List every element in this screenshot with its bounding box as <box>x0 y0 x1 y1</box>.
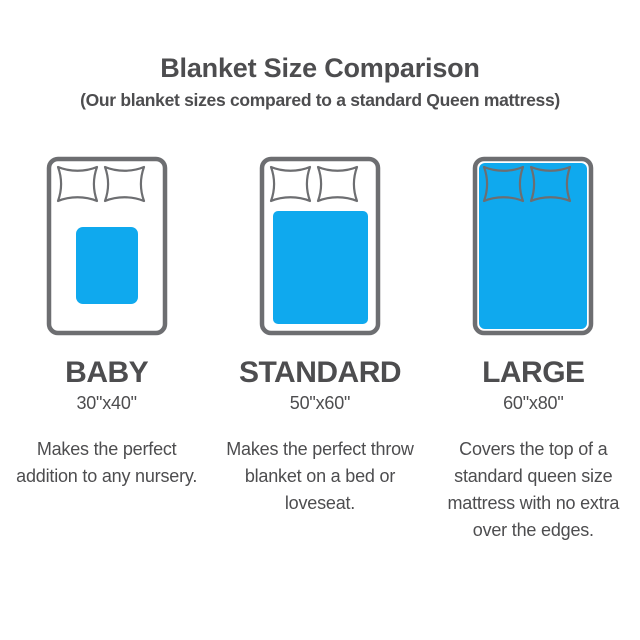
pillow-right-icon <box>105 167 144 201</box>
comparison-column-standard: STANDARD 50"x60" Makes the perfect throw… <box>213 148 426 517</box>
blanket-overlay-standard <box>273 211 368 324</box>
bed-diagram-large <box>469 148 597 344</box>
size-name-baby: BABY <box>65 356 148 390</box>
size-dimensions-baby: 30"x40" <box>76 392 136 414</box>
size-dimensions-standard: 50"x60" <box>290 392 350 414</box>
bed-with-blanket-icon <box>43 148 171 344</box>
pillow-left-icon <box>58 167 97 201</box>
comparison-columns: BABY 30"x40" Makes the perfect addition … <box>0 148 640 544</box>
size-dimensions-large: 60"x80" <box>503 392 563 414</box>
bed-with-blanket-icon <box>256 148 384 344</box>
size-description-large: Covers the top of a standard queen size … <box>438 436 628 544</box>
blanket-size-comparison-infographic: Blanket Size Comparison (Our blanket siz… <box>0 0 640 640</box>
size-name-standard: STANDARD <box>239 356 401 390</box>
pillow-left-icon <box>271 167 310 201</box>
size-name-large: LARGE <box>482 356 585 390</box>
page-subtitle: (Our blanket sizes compared to a standar… <box>0 88 640 112</box>
bed-diagram-baby <box>43 148 171 344</box>
comparison-column-large: LARGE 60"x80" Covers the top of a standa… <box>427 148 640 544</box>
comparison-column-baby: BABY 30"x40" Makes the perfect addition … <box>0 148 213 490</box>
size-description-baby: Makes the perfect addition to any nurser… <box>12 436 202 490</box>
bed-diagram-standard <box>256 148 384 344</box>
pillow-right-icon <box>318 167 357 201</box>
bed-with-blanket-icon <box>469 148 597 344</box>
heading-block: Blanket Size Comparison (Our blanket siz… <box>0 52 640 112</box>
page-title: Blanket Size Comparison <box>0 52 640 84</box>
blanket-overlay-baby <box>76 227 138 304</box>
size-description-standard: Makes the perfect throw blanket on a bed… <box>225 436 415 517</box>
